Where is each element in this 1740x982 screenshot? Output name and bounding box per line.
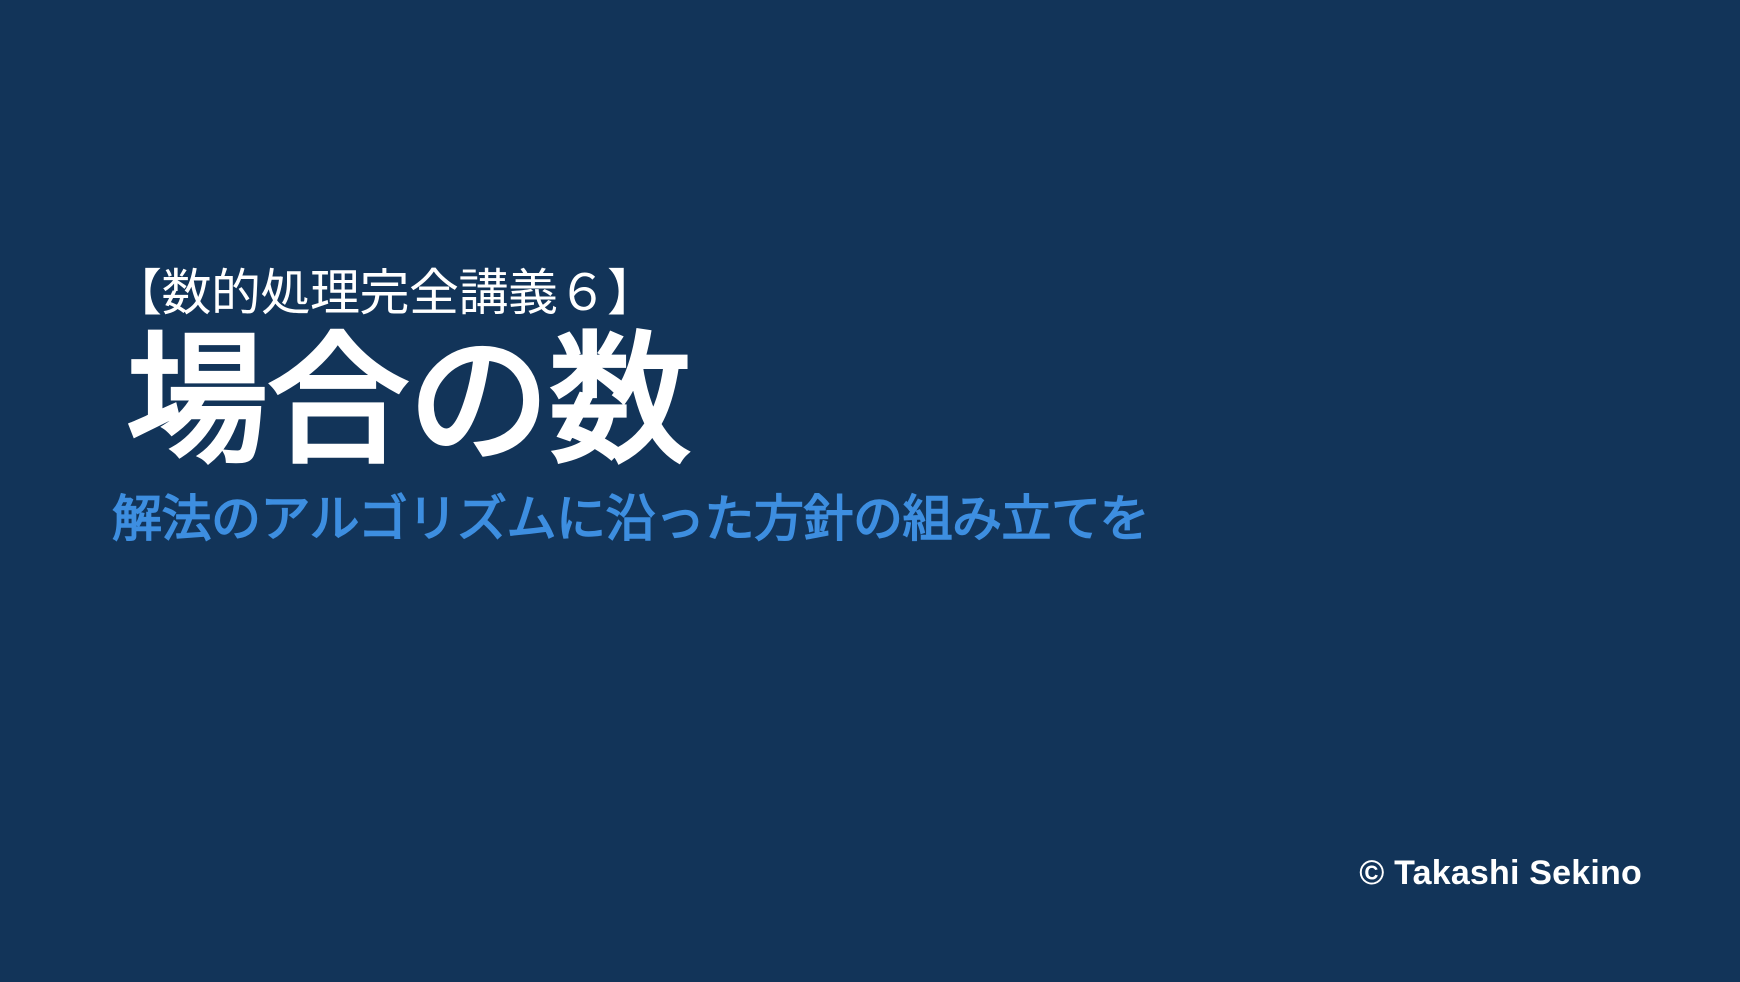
copyright-notice: © Takashi Sekino bbox=[1359, 856, 1642, 890]
slide-subtitle: 解法のアルゴリズムに沿った方針の組み立てを bbox=[112, 492, 1592, 547]
title-slide: 【数的処理完全講義６】 場合の数 解法のアルゴリズムに沿った方針の組み立てを ©… bbox=[0, 0, 1740, 982]
title-block: 【数的処理完全講義６】 場合の数 解法のアルゴリズムに沿った方針の組み立てを bbox=[112, 268, 1592, 547]
slide-main-title: 場合の数 bbox=[126, 328, 1592, 476]
slide-eyebrow-series-label: 【数的処理完全講義６】 bbox=[112, 268, 1592, 318]
